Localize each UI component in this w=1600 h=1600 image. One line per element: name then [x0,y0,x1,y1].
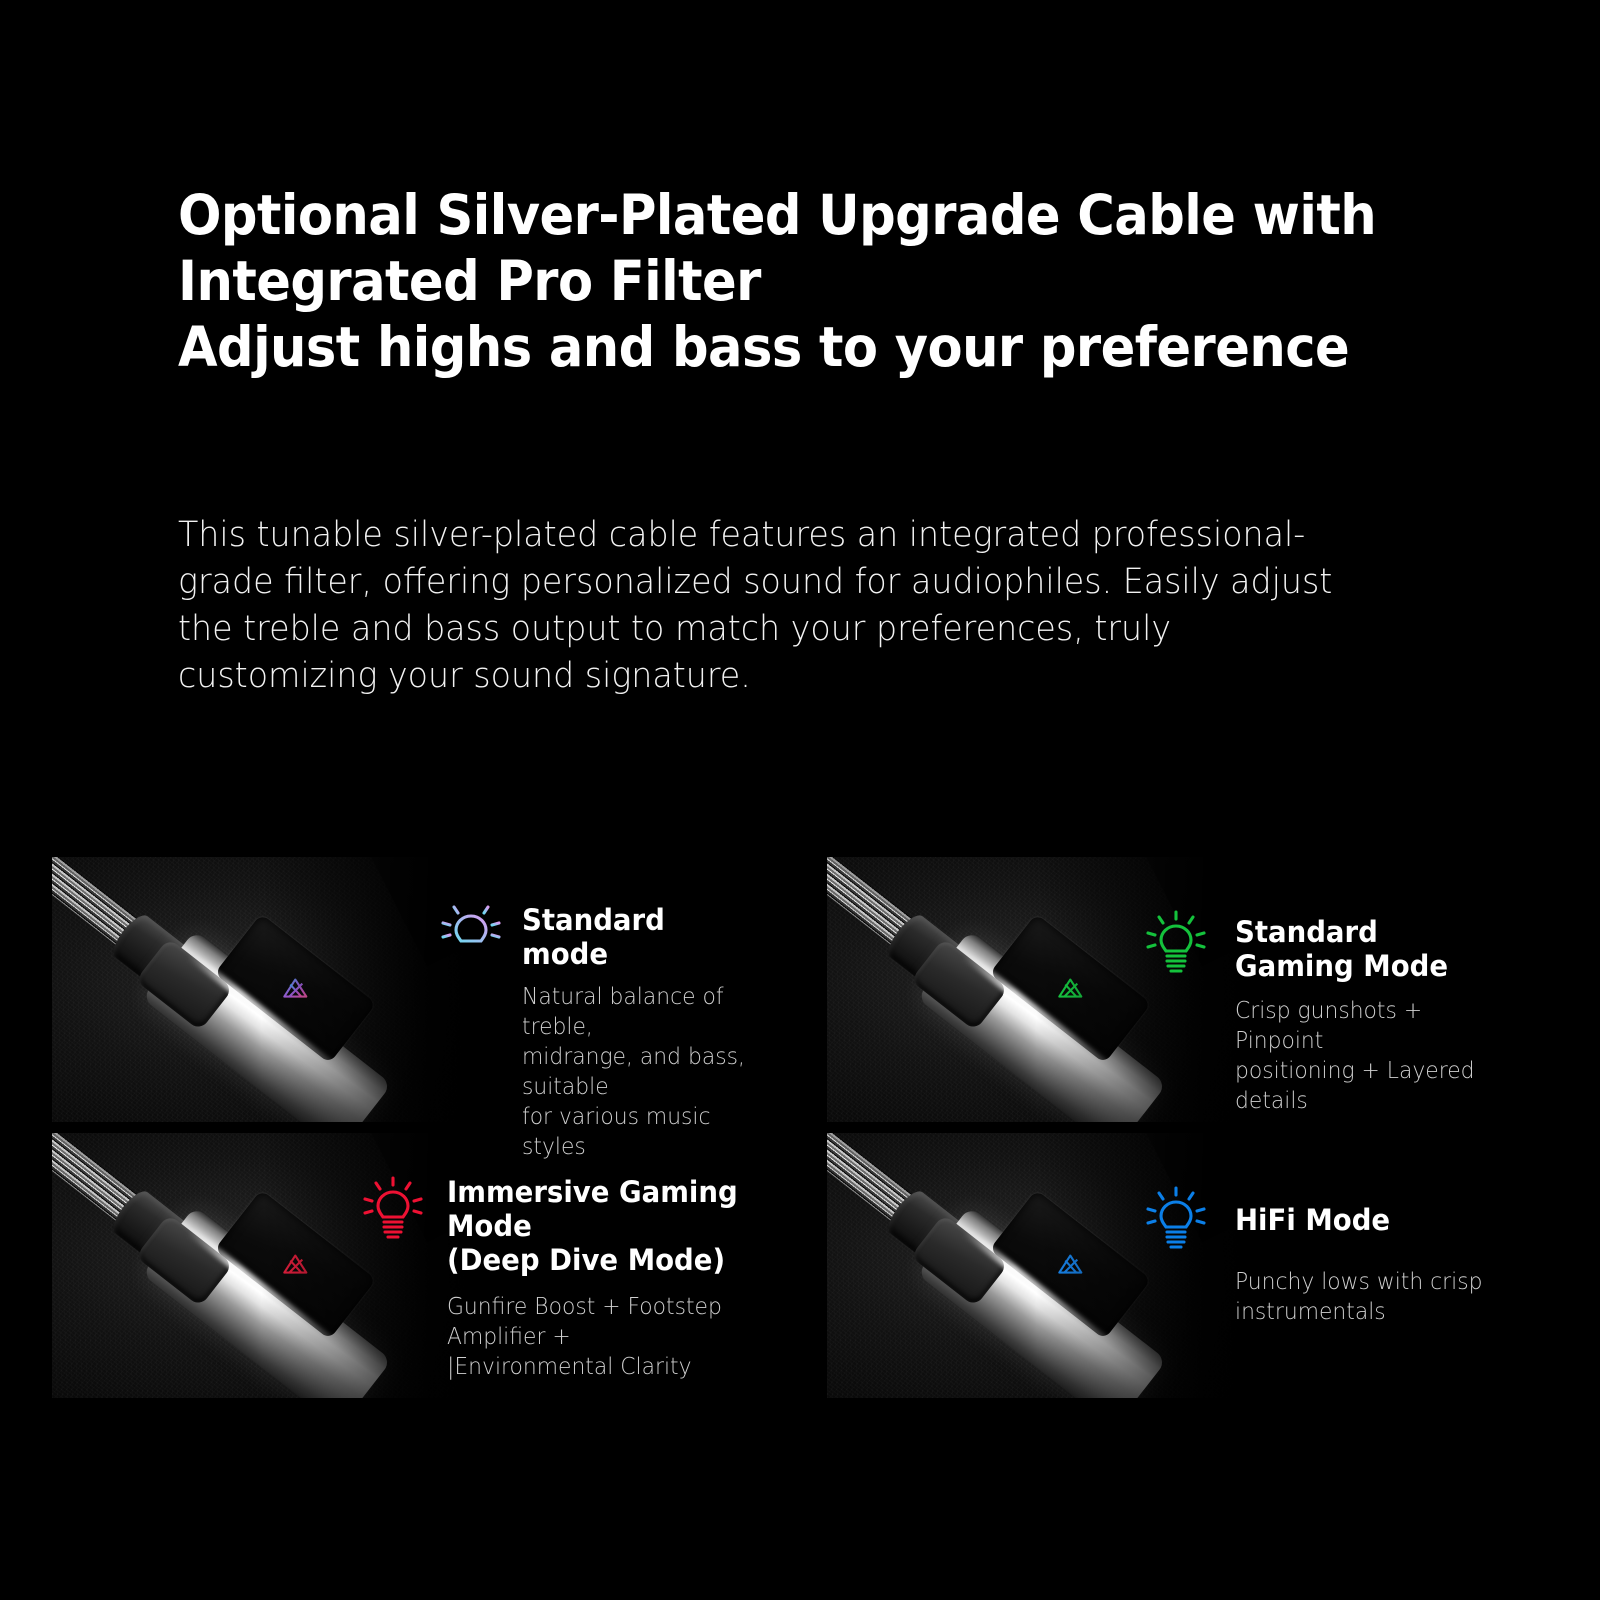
page-title: Optional Silver-Plated Upgrade Cable wit… [178,182,1387,380]
mode-info-block: HiFi Mode Punchy lows with crisp instrum… [1145,1185,1515,1327]
mode-description: Natural balance of treble, midrange, and… [522,982,758,1162]
lightbulb-icon [1145,1185,1207,1253]
mode-card-standard-gaming-mode[interactable]: Standard Gaming Mode Crisp gunshots + Pi… [827,857,1525,1122]
mode-info-block: Immersive Gaming Mode (Deep Dive Mode) G… [362,1175,762,1382]
mode-title: HiFi Mode [1235,1203,1501,1237]
lightbulb-icon [440,899,502,967]
mode-card-standard-mode[interactable]: Standard mode Natural balance of treble,… [52,857,750,1122]
mode-info-block: Standard mode Natural balance of treble,… [440,899,770,1162]
mode-title: Immersive Gaming Mode (Deep Dive Mode) [447,1175,746,1277]
hero-heading-block: Optional Silver-Plated Upgrade Cable wit… [178,182,1478,380]
mode-title: Standard Gaming Mode [1235,915,1501,983]
hero-description: This tunable silver-plated cable feature… [178,512,1361,700]
mode-card-grid: Standard mode Natural balance of treble,… [0,857,1600,1392]
mode-description: Punchy lows with crisp instrumentals [1235,1267,1501,1327]
lightbulb-icon [362,1175,424,1243]
lightbulb-icon [1145,909,1207,977]
mode-card-immersive-gaming-mode[interactable]: Immersive Gaming Mode (Deep Dive Mode) G… [52,1133,750,1398]
mode-title: Standard mode [522,903,758,971]
mode-description: Gunfire Boost + Footstep Amplifier + |En… [447,1292,746,1382]
mode-card-hifi-mode[interactable]: HiFi Mode Punchy lows with crisp instrum… [827,1133,1525,1398]
mode-description: Crisp gunshots + Pinpoint positioning + … [1235,996,1501,1116]
mode-info-block: Standard Gaming Mode Crisp gunshots + Pi… [1145,909,1515,1116]
